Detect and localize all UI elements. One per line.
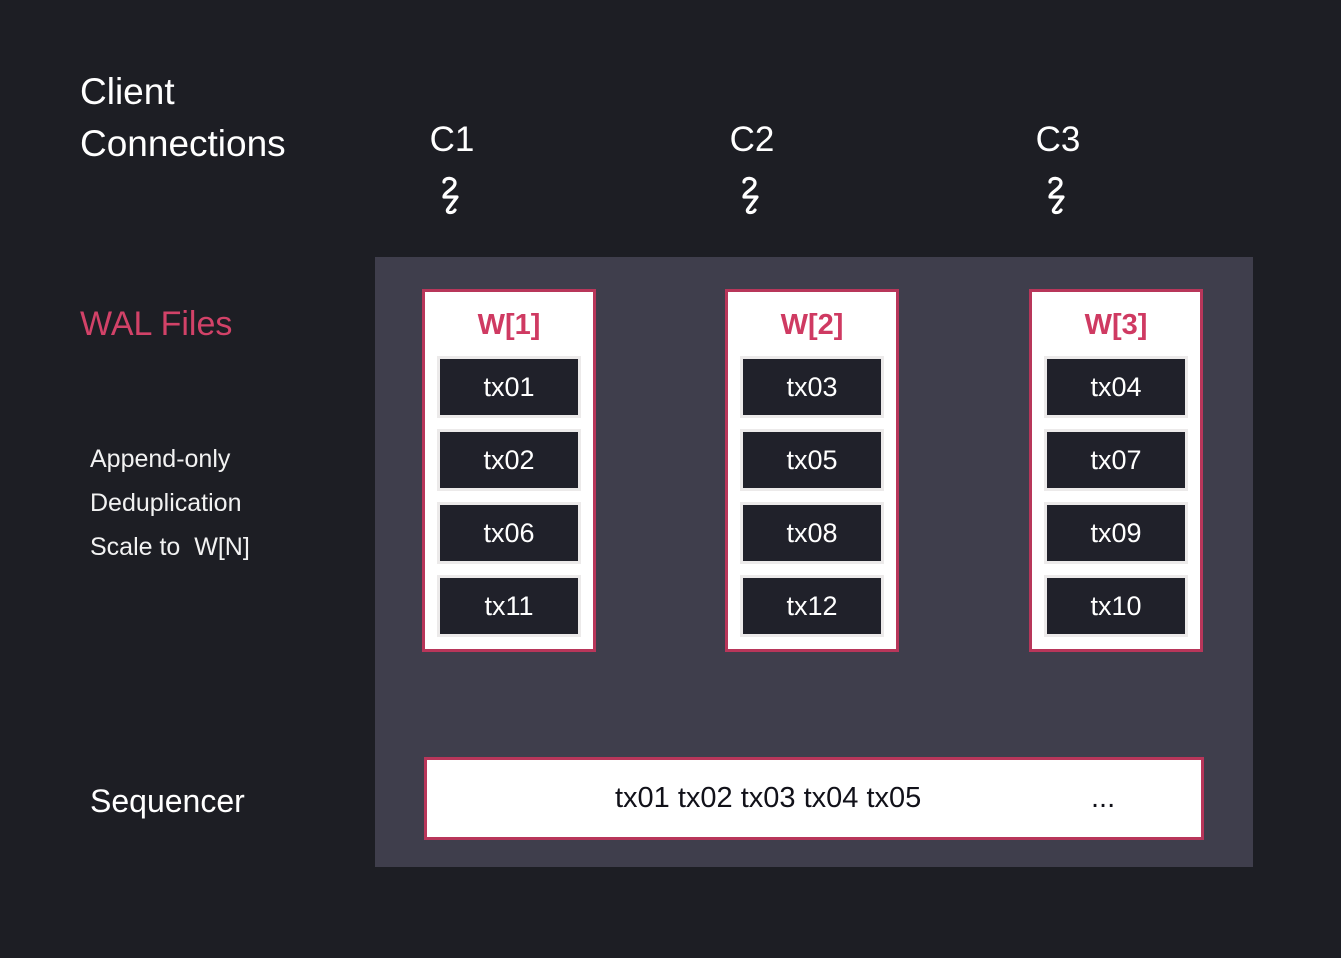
transaction-chip[interactable]: tx09 bbox=[1044, 502, 1188, 564]
wal-note-item: Scale to W[N] bbox=[90, 525, 250, 569]
sequencer-label: Sequencer bbox=[90, 783, 245, 820]
sequencer-ellipsis: ... bbox=[1091, 782, 1115, 815]
transaction-chip[interactable]: tx10 bbox=[1044, 575, 1188, 637]
transaction-chip[interactable]: tx12 bbox=[740, 575, 884, 637]
wal-file-card-3[interactable]: W[3] tx04 tx07 tx09 tx10 bbox=[1029, 289, 1203, 652]
client-connection-c3[interactable]: C3 bbox=[998, 118, 1118, 228]
transaction-chip[interactable]: tx11 bbox=[437, 575, 581, 637]
client-connection-c2[interactable]: C2 bbox=[692, 118, 812, 228]
sequencer-transaction-list: tx01 tx02 tx03 tx04 tx05 bbox=[615, 782, 921, 815]
transaction-chip[interactable]: tx04 bbox=[1044, 356, 1188, 418]
wal-note-item: Append-only bbox=[90, 437, 250, 481]
client-connections-row: C1 C2 C3 bbox=[375, 118, 1253, 248]
transaction-chip[interactable]: tx08 bbox=[740, 502, 884, 564]
wal-card-title: W[2] bbox=[740, 302, 884, 348]
sequencer-bar[interactable]: tx01 tx02 tx03 tx04 tx05 ... bbox=[424, 757, 1204, 840]
wal-file-card-2[interactable]: W[2] tx03 tx05 tx08 tx12 bbox=[725, 289, 899, 652]
wal-card-title: W[3] bbox=[1044, 302, 1188, 348]
client-label: C1 bbox=[392, 118, 512, 162]
zigzag-connector-icon bbox=[392, 176, 512, 228]
client-label: C3 bbox=[998, 118, 1118, 162]
wal-files-label: WAL Files bbox=[80, 305, 232, 344]
transaction-chip[interactable]: tx07 bbox=[1044, 429, 1188, 491]
zigzag-connector-icon bbox=[692, 176, 812, 228]
client-label: C2 bbox=[692, 118, 812, 162]
client-connection-c1[interactable]: C1 bbox=[392, 118, 512, 228]
wal-note-item: Deduplication bbox=[90, 481, 250, 525]
wal-panel: W[1] tx01 tx02 tx06 tx11 W[2] tx03 tx05 … bbox=[375, 257, 1253, 867]
client-connections-label: Client Connections bbox=[80, 66, 286, 170]
wal-notes-list: Append-only Deduplication Scale to W[N] bbox=[90, 437, 250, 569]
transaction-chip[interactable]: tx06 bbox=[437, 502, 581, 564]
wal-file-card-1[interactable]: W[1] tx01 tx02 tx06 tx11 bbox=[422, 289, 596, 652]
transaction-chip[interactable]: tx05 bbox=[740, 429, 884, 491]
transaction-chip[interactable]: tx03 bbox=[740, 356, 884, 418]
transaction-chip[interactable]: tx01 bbox=[437, 356, 581, 418]
zigzag-connector-icon bbox=[998, 176, 1118, 228]
wal-card-title: W[1] bbox=[437, 302, 581, 348]
transaction-chip[interactable]: tx02 bbox=[437, 429, 581, 491]
